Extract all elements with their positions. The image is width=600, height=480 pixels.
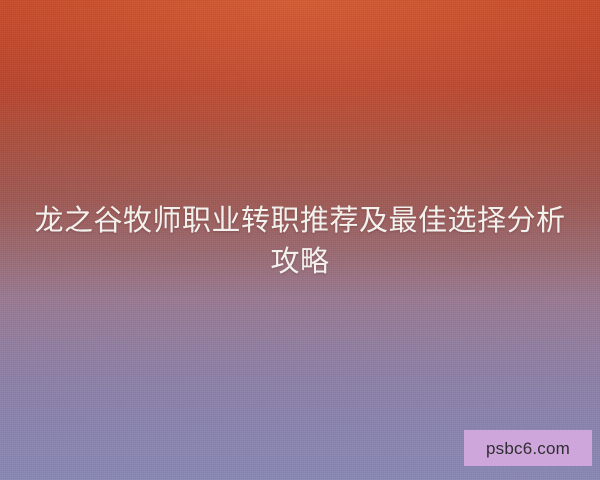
banner-title-container: 龙之谷牧师职业转职推荐及最佳选择分析攻略 <box>0 200 600 282</box>
watermark-text: psbc6.com <box>486 440 570 457</box>
article-banner-image: 龙之谷牧师职业转职推荐及最佳选择分析攻略 psbc6.com <box>0 0 600 480</box>
banner-title: 龙之谷牧师职业转职推荐及最佳选择分析攻略 <box>24 200 576 282</box>
watermark-badge: psbc6.com <box>464 430 592 466</box>
